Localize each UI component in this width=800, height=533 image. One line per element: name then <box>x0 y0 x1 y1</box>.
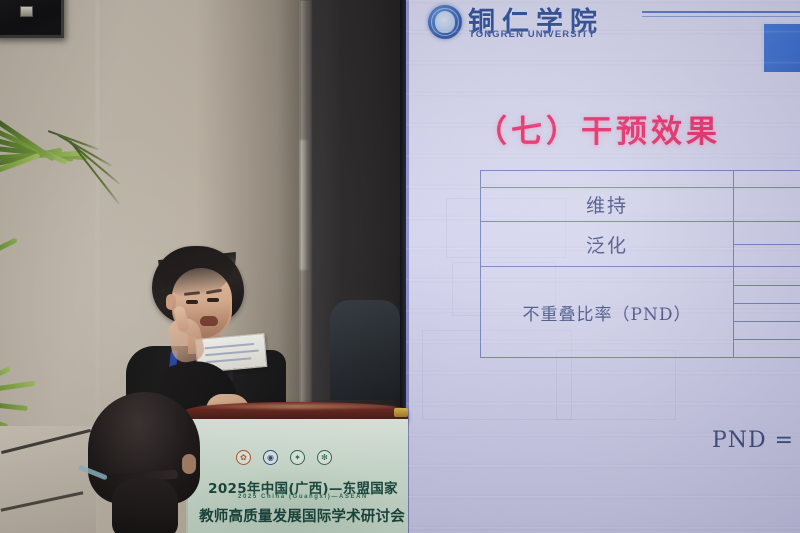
attendee-ear <box>182 454 196 474</box>
table-subdivision <box>734 222 800 266</box>
table-row: 不重叠比率（PND） <box>481 267 800 357</box>
emblem-icon-4: ❇ <box>317 450 332 465</box>
table-cell-value <box>733 267 800 357</box>
speaker-mouth <box>200 316 218 326</box>
header-rule-secondary <box>642 16 800 17</box>
background-person <box>330 300 400 400</box>
slide-header: 铜仁学院 TONGREN UNIVERSITY <box>428 2 800 46</box>
table-cell-label: 不重叠比率（PND） <box>481 267 733 357</box>
table-row: 泛化 <box>481 222 800 267</box>
table-cell-value <box>733 188 800 221</box>
banner-title-line-2: 教师高质量发展国际学术研讨会 <box>192 505 408 526</box>
table-cell-label: 泛化 <box>481 222 733 266</box>
banner-title-english: 2025 China (Guangxi)—ASEAN <box>203 494 403 500</box>
conference-photo: 铜仁学院 TONGREN UNIVERSITY （七）干预效果 维持 泛化 <box>0 0 800 533</box>
emblem-icon-1: ✿ <box>236 450 251 465</box>
header-rule <box>642 11 800 13</box>
pnd-formula: PND = <box>712 428 794 453</box>
table-cell-value <box>733 222 800 266</box>
lectern-clip <box>394 408 408 417</box>
emblem-icon-3: ✦ <box>290 450 305 465</box>
foreground-attendee <box>82 392 208 533</box>
attendee-ponytail <box>112 478 178 533</box>
emblem-icon-2: ◉ <box>263 450 278 465</box>
wall-monitor <box>0 0 64 38</box>
table-header-value <box>733 171 800 187</box>
slide-table: 维持 泛化 不重叠比率（PND） <box>480 170 800 358</box>
table-subdivision <box>734 267 800 357</box>
slide-blue-accent-box <box>761 22 800 72</box>
table-row: 维持 <box>481 188 800 222</box>
monitor-label <box>20 6 33 17</box>
banner-emblems: ✿ ◉ ✦ ❇ <box>236 450 332 465</box>
table-cell-label: 维持 <box>481 188 733 221</box>
projection-screen: 铜仁学院 TONGREN UNIVERSITY （七）干预效果 维持 泛化 <box>406 0 800 533</box>
lectern-highlight <box>196 404 396 409</box>
table-header-label <box>481 171 733 187</box>
table-row <box>481 171 800 188</box>
university-seal-icon <box>428 5 462 39</box>
university-name-en: TONGREN UNIVERSITY <box>469 29 596 40</box>
slide-title: （七）干预效果 <box>476 106 721 151</box>
lectern-banner: ✿ ◉ ✦ ❇ 2025年中国(广西)—东盟国家 2025 China (Gua… <box>186 419 408 533</box>
